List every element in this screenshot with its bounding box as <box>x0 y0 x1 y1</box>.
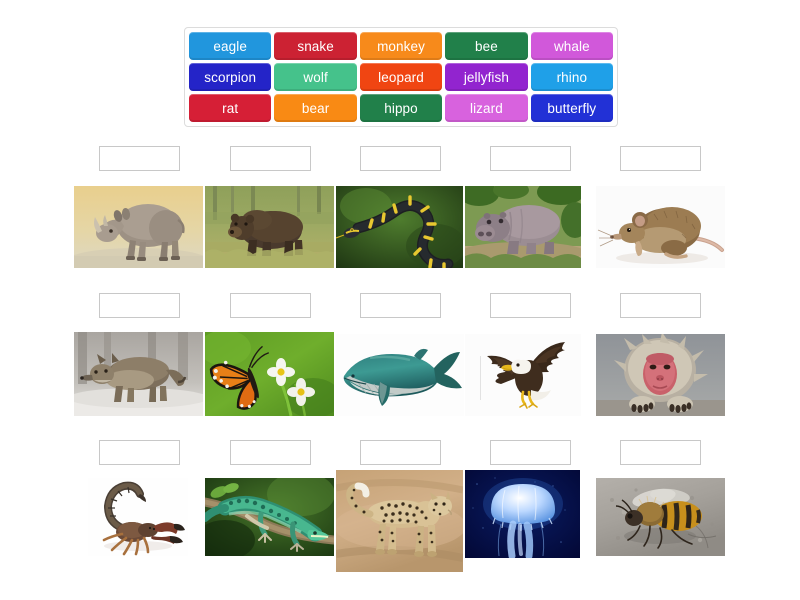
tile-bee[interactable]: bee <box>445 32 527 60</box>
dropzone-1-3[interactable] <box>360 146 441 171</box>
tile-leopard[interactable]: leopard <box>360 63 442 91</box>
tile-lizard[interactable]: lizard <box>445 94 527 122</box>
image-monkey[interactable] <box>596 334 725 416</box>
tile-row-1: eagle snake monkey bee whale <box>189 32 613 60</box>
dropzone-2-2[interactable] <box>230 293 311 318</box>
tile-scorpion[interactable]: scorpion <box>189 63 271 91</box>
dropzone-2-5[interactable] <box>620 293 701 318</box>
word-tile-bank: eagle snake monkey bee whale scorpion wo… <box>184 27 618 127</box>
dropzone-2-1[interactable] <box>99 293 180 318</box>
image-wolf[interactable] <box>74 332 203 416</box>
dropzone-3-4[interactable] <box>490 440 571 465</box>
image-rhino[interactable] <box>74 186 203 268</box>
tile-rhino[interactable]: rhino <box>531 63 613 91</box>
image-hippo[interactable] <box>465 186 581 268</box>
tile-snake[interactable]: snake <box>274 32 356 60</box>
tile-jellyfish[interactable]: jellyfish <box>445 63 527 91</box>
tile-butterfly[interactable]: butterfly <box>531 94 613 122</box>
image-butterfly[interactable] <box>205 332 334 416</box>
dropzone-3-5[interactable] <box>620 440 701 465</box>
image-bee[interactable] <box>596 478 725 556</box>
tile-monkey[interactable]: monkey <box>360 32 442 60</box>
image-bear[interactable] <box>205 186 334 268</box>
image-whale[interactable] <box>336 334 464 416</box>
image-scorpion[interactable] <box>88 478 188 556</box>
dropzone-3-2[interactable] <box>230 440 311 465</box>
image-leopard[interactable] <box>336 470 463 572</box>
tile-hippo[interactable]: hippo <box>360 94 442 122</box>
image-snake[interactable] <box>336 186 463 268</box>
image-eagle[interactable] <box>465 334 581 416</box>
image-lizard[interactable] <box>205 478 334 556</box>
dropzone-3-1[interactable] <box>99 440 180 465</box>
tile-bear[interactable]: bear <box>274 94 356 122</box>
image-rat[interactable] <box>596 186 725 268</box>
dropzone-2-4[interactable] <box>490 293 571 318</box>
activity-stage: eagle snake monkey bee whale scorpion wo… <box>0 0 800 600</box>
dropzone-2-3[interactable] <box>360 293 441 318</box>
dropzone-1-2[interactable] <box>230 146 311 171</box>
tile-eagle[interactable]: eagle <box>189 32 271 60</box>
dropzone-3-3[interactable] <box>360 440 441 465</box>
tile-row-3: rat bear hippo lizard butterfly <box>189 94 613 122</box>
tile-wolf[interactable]: wolf <box>274 63 356 91</box>
dropzone-1-5[interactable] <box>620 146 701 171</box>
tile-row-2: scorpion wolf leopard jellyfish rhino <box>189 63 613 91</box>
image-jellyfish[interactable] <box>465 470 580 558</box>
dropzone-1-4[interactable] <box>490 146 571 171</box>
tile-whale[interactable]: whale <box>531 32 613 60</box>
tile-rat[interactable]: rat <box>189 94 271 122</box>
dropzone-1-1[interactable] <box>99 146 180 171</box>
